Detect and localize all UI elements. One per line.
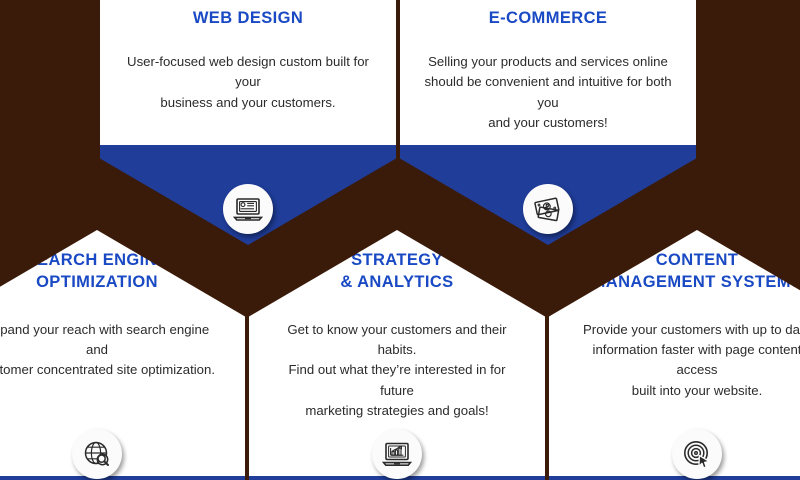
cell-description: Selling your products and services onlin…: [424, 52, 672, 134]
cell-title: CONTENT MANAGEMENT SYSTEMS: [573, 250, 800, 294]
laptop-browser-icon: [223, 184, 273, 234]
cell-title: WEB DESIGN: [124, 8, 372, 30]
cell-description: User-focused web design custom built for…: [124, 52, 372, 113]
laptop-chart-icon: [372, 429, 422, 479]
cell-description: Expand your reach with search engine and…: [0, 320, 221, 381]
services-honeycomb-grid: WEB DESIGN User-focused web design custo…: [0, 0, 800, 480]
cash-money-icon: [523, 184, 573, 234]
globe-search-icon: [72, 429, 122, 479]
target-cursor-icon: [672, 429, 722, 479]
cell-body: SEARCH ENGINE OPTIMIZATION Expand your r…: [0, 230, 245, 480]
service-cell-seo[interactable]: SEARCH ENGINE OPTIMIZATION Expand your r…: [0, 230, 245, 480]
cell-description: Provide your customers with up to date i…: [573, 320, 800, 402]
cell-title: SEARCH ENGINE OPTIMIZATION: [0, 250, 221, 294]
cell-description: Get to know your customers and their hab…: [273, 320, 521, 422]
cell-title: E-COMMERCE: [424, 8, 672, 30]
cell-title: STRATEGY & ANALYTICS: [273, 250, 521, 294]
